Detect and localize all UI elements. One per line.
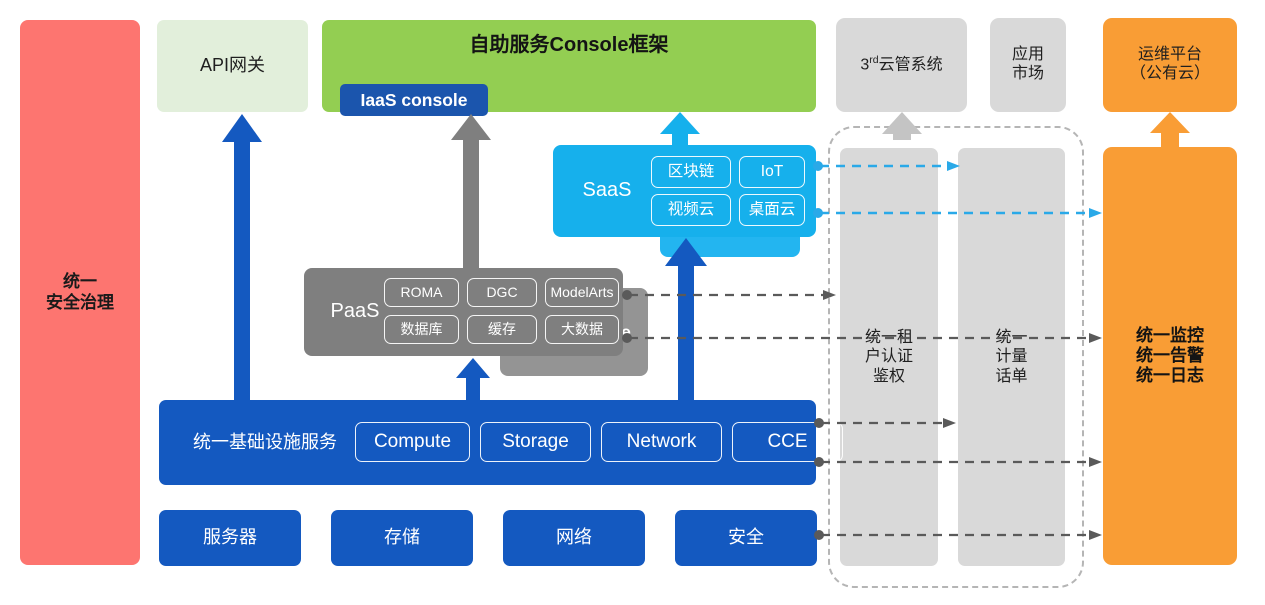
foundation-box-storage: 存储 [331,510,473,566]
api-gateway-label: API网关 [200,55,265,76]
infra-chip-cce: CCE [732,422,843,462]
foundation-box-security: 安全 [675,510,817,566]
third-party-cloud-mgmt-box: 3rd云管系统 [836,18,967,112]
foundation-box-server: 服务器 [159,510,301,566]
arrow-infra-to-saas [665,238,707,400]
infra-chip-compute: Compute [355,422,470,462]
console-frame-title: 自助服务Console框架 [322,30,816,62]
unified-security-governance-panel: 统一 安全治理 [20,20,140,565]
ops-platform-box: 运维平台 （公有云） [1103,18,1237,112]
saas-label: SaaS [567,145,647,237]
architecture-diagram: 统一 安全治理 API网关 自助服务Console框架 IaaS console… [0,0,1265,605]
paas-chip-database: 数据库 [384,315,459,344]
arrow-infra-to-api-gateway [222,114,262,400]
ops-platform-label: 运维平台 （公有云） [1130,46,1210,84]
api-gateway-box: API网关 [157,20,308,112]
paas-chip-cache: 缓存 [467,315,537,344]
self-service-console-frame: 自助服务Console框架 IaaS console PaaS console … [322,20,816,112]
arrow-saas-to-saas-console [660,112,700,145]
unified-monitoring-panel: 统一监控 统一告警 统一日志 [1103,147,1237,565]
infra-chip-storage: Storage [480,422,591,462]
unified-tenant-auth-label: 统一租 户认证 鉴权 [865,328,913,387]
infrastructure-label: 统一基础设施服务 [175,400,355,485]
marketplace-label: 应用 市场 [1012,46,1044,84]
unified-metering-column: 统一 计量 话单 [958,148,1065,566]
saas-chip-iot: IoT [739,156,805,188]
governance-label: 统一 安全治理 [46,272,114,312]
saas-chip-video-cloud: 视频云 [651,194,731,226]
saas-block: SaaS 区块链 IoT 视频云 桌面云 [553,145,816,237]
paas-chip-modelarts: ModelArts [545,278,619,307]
unified-infrastructure-bar: 统一基础设施服务 Compute Storage Network CCE [159,400,816,485]
infra-chip-network: Network [601,422,722,462]
arrow-ops-panel-to-ops-platform [1150,112,1190,147]
saas-chip-blockchain: 区块链 [651,156,731,188]
app-marketplace-box: 应用 市场 [990,18,1066,112]
third-party-label: 3rd云管系统 [860,54,942,75]
dashed-paas-to-tenant-auth [622,290,836,300]
foundation-box-network: 网络 [503,510,645,566]
unified-tenant-auth-column: 统一租 户认证 鉴权 [840,148,938,566]
arrow-paas-to-console [451,114,491,268]
saas-chip-desktop-cloud: 桌面云 [739,194,805,226]
paas-chip-dgc: DGC [467,278,537,307]
paas-chip-roma: ROMA [384,278,459,307]
paas-label: PaaS [316,268,394,356]
paas-chip-bigdata: 大数据 [545,315,619,344]
iaas-console-button[interactable]: IaaS console [340,84,488,116]
arrow-infra-to-paas [456,358,490,400]
paas-block: PaaS ROMA DGC ModelArts 数据库 缓存 大数据 [304,268,623,356]
unified-metering-label: 统一 计量 话单 [995,328,1027,387]
unified-monitoring-label: 统一监控 统一告警 统一日志 [1136,326,1204,386]
